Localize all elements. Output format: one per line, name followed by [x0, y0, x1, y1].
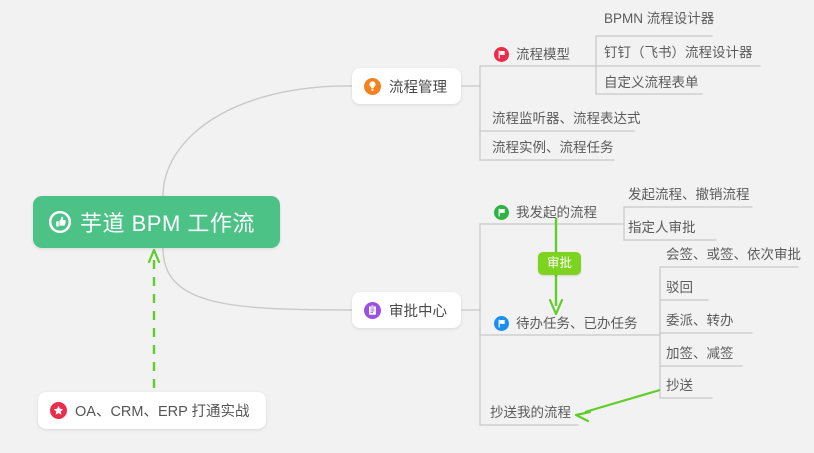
leaf-label: BPMN 流程设计器: [604, 12, 714, 26]
leaf-label: 我发起的流程: [516, 206, 597, 220]
green-flag-icon: [494, 205, 509, 220]
branch-label-process-management: 流程管理: [389, 76, 447, 97]
leaf-my-initiated-process[interactable]: 我发起的流程: [494, 205, 597, 220]
leaf-label: 自定义流程表单: [604, 76, 699, 90]
leaf-reject[interactable]: 驳回: [666, 281, 693, 295]
footer-node-oa-crm-erp[interactable]: OA、CRM、ERP 打通实战: [38, 392, 266, 429]
leaf-label: 抄送: [666, 379, 693, 393]
leaf-label: 抄送我的流程: [490, 406, 571, 420]
leaf-process-listener[interactable]: 流程监听器、流程表达式: [492, 112, 641, 126]
leaf-cc[interactable]: 抄送: [666, 379, 693, 393]
leaf-process-model[interactable]: 流程模型: [494, 47, 570, 62]
leaf-label: 委派、转办: [666, 314, 734, 328]
blue-flag-icon: [494, 316, 509, 331]
copy-to-me-arrow: [576, 390, 660, 421]
approval-tag: 审批: [538, 252, 581, 275]
leaf-label: 发起流程、撤销流程: [628, 188, 750, 202]
leaf-delegate-transfer[interactable]: 委派、转办: [666, 314, 734, 328]
branch-node-approval-center[interactable]: 审批中心: [352, 292, 461, 328]
leaf-add-remove-sign[interactable]: 加签、减签: [666, 347, 734, 361]
leaf-label: 指定人审批: [628, 221, 696, 235]
leaf-label: 流程监听器、流程表达式: [492, 112, 641, 126]
leaf-bpmn-designer[interactable]: BPMN 流程设计器: [604, 12, 714, 26]
approval-tag-label: 审批: [547, 256, 572, 270]
leaf-todo-done-tasks[interactable]: 待办任务、已办任务: [494, 316, 638, 331]
root-node-label: 芋道 BPM 工作流: [80, 206, 255, 238]
lightbulb-icon: [364, 78, 381, 95]
clipboard-icon: [364, 302, 381, 319]
leaf-label: 会签、或签、依次审批: [666, 248, 801, 262]
red-flag-icon: [494, 47, 509, 62]
thumbs-up-icon: [49, 211, 71, 233]
leaf-assignee-approval[interactable]: 指定人审批: [628, 221, 696, 235]
leaf-label: 驳回: [666, 281, 693, 295]
leaf-label: 加签、减签: [666, 347, 734, 361]
leaf-dingtalk-designer[interactable]: 钉钉（飞书）流程设计器: [604, 46, 753, 60]
leaf-countersign[interactable]: 会签、或签、依次审批: [666, 248, 801, 262]
leaf-label: 流程实例、流程任务: [492, 141, 614, 155]
leaf-start-cancel-process[interactable]: 发起流程、撤销流程: [628, 188, 750, 202]
mindmap-canvas: 芋道 BPM 工作流 流程管理 流程模型 流程监听器、流程表达式 流程实例、流: [0, 0, 814, 453]
leaf-cc-to-me-process[interactable]: 抄送我的流程: [490, 406, 571, 420]
leaf-label: 待办任务、已办任务: [516, 317, 638, 331]
branch-node-process-management[interactable]: 流程管理: [352, 68, 461, 104]
footer-node-label: OA、CRM、ERP 打通实战: [75, 400, 250, 421]
branch-label-approval-center: 审批中心: [389, 300, 447, 321]
leaf-label: 流程模型: [516, 48, 570, 62]
dashed-arrow-up: [149, 250, 159, 388]
leaf-label: 钉钉（飞书）流程设计器: [604, 46, 753, 60]
leaf-process-instance[interactable]: 流程实例、流程任务: [492, 141, 614, 155]
star-icon: [50, 402, 67, 419]
leaf-custom-form[interactable]: 自定义流程表单: [604, 76, 699, 90]
root-node[interactable]: 芋道 BPM 工作流: [33, 196, 280, 248]
